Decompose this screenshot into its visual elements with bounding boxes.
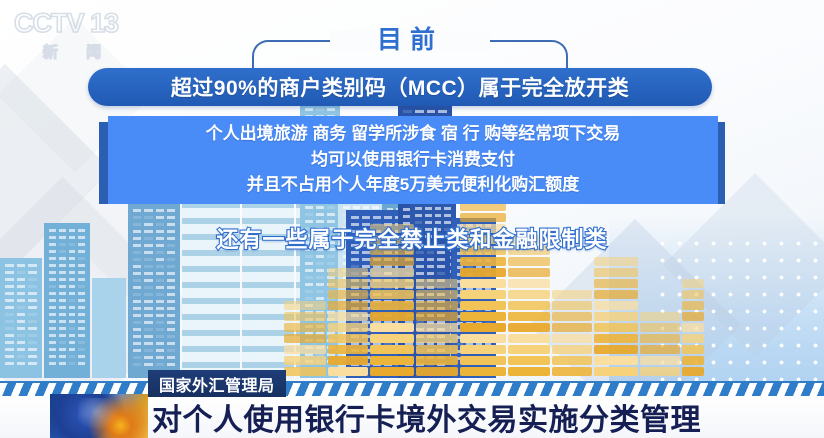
detail-line: 均可以使用银行卡消费支付 bbox=[311, 148, 515, 173]
coin-stack bbox=[416, 279, 458, 378]
coin-stack bbox=[328, 268, 368, 378]
agency-label: 国家外汇管理局 bbox=[148, 370, 286, 397]
building bbox=[0, 258, 42, 378]
coin-stack bbox=[284, 301, 326, 378]
lower-third-headline: 对个人使用银行卡境外交易实施分类管理 bbox=[152, 395, 701, 438]
coin-stack bbox=[640, 312, 680, 378]
channel-logo: CCTV 13 新 闻 bbox=[14, 10, 142, 62]
detail-line: 个人出境旅游 商务 留学所涉食 宿 行 购等经常项下交易 bbox=[206, 122, 621, 147]
coin-stack bbox=[682, 279, 704, 378]
detail-panel: 个人出境旅游 商务 留学所涉食 宿 行 购等经常项下交易均可以使用银行卡消费支付… bbox=[108, 116, 718, 204]
coin-stack bbox=[508, 235, 550, 378]
coin-stack bbox=[594, 257, 638, 378]
detail-line: 并且不占用个人年度5万美元便利化购汇额度 bbox=[247, 173, 579, 198]
channel-logo-text: CCTV 13 bbox=[14, 10, 142, 37]
coin-stack bbox=[552, 290, 592, 378]
coin-stack bbox=[460, 180, 506, 378]
headline-banner: 超过90%的商户类别码（MCC）属于完全放开类 bbox=[88, 68, 712, 106]
section-title: 目前 bbox=[330, 20, 490, 56]
globe-icon bbox=[50, 394, 148, 438]
headline-banner-text: 超过90%的商户类别码（MCC）属于完全放开类 bbox=[171, 72, 629, 102]
agency-label-text: 国家外汇管理局 bbox=[159, 372, 275, 396]
broadcast-frame: CCTV 13 新 闻 目前 超过90%的商户类别码（MCC）属于完全放开类 个… bbox=[0, 0, 824, 438]
channel-logo-subtitle: 新 闻 bbox=[14, 41, 142, 62]
building bbox=[92, 278, 126, 378]
outlined-statement: 还有一些属于完全禁止类和金融限制类 bbox=[0, 222, 824, 254]
